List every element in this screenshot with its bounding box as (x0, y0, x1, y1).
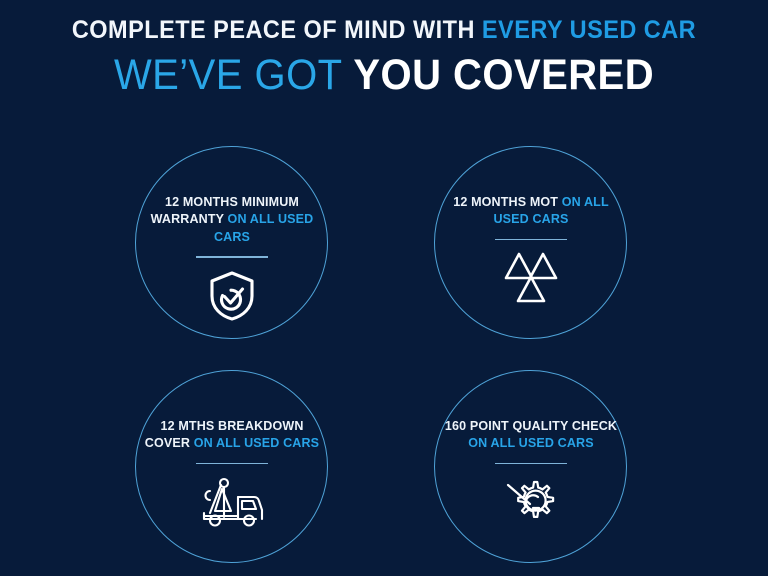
benefit-text-breakdown: 12 MTHS BREAKDOWN COVER ON ALL USED CARS (142, 417, 321, 452)
divider (196, 463, 268, 465)
mot-triangles-icon (503, 250, 559, 306)
benefit-title-blue: ON ALL USED CARS (213, 211, 312, 243)
benefit-circle-mot: 12 MONTHS MOT ON ALL USED CARS (434, 146, 627, 339)
benefit-circles-grid: 12 MONTHS MINIMUM WARRANTY ON ALL USED C… (0, 146, 768, 576)
benefit-title-white: 160 POINT QUALITY CHECK (444, 418, 616, 433)
benefit-circle-breakdown: 12 MTHS BREAKDOWN COVER ON ALL USED CARS (135, 370, 328, 563)
divider (495, 463, 567, 465)
tow-truck-icon (198, 474, 266, 530)
headline-line-1: COMPLETE PEACE OF MIND WITH EVERY USED C… (23, 16, 745, 45)
headline-line-2-blue: WE’VE GOT (114, 51, 353, 99)
benefit-text-mot: 12 MONTHS MOT ON ALL USED CARS (441, 193, 620, 228)
headline-line-2: WE’VE GOT YOU COVERED (27, 52, 741, 99)
used-car-promise-banner: COMPLETE PEACE OF MIND WITH EVERY USED C… (0, 0, 768, 576)
benefit-text-warranty: 12 MONTHS MINIMUM WARRANTY ON ALL USED C… (142, 193, 321, 245)
shield-check-icon (208, 268, 256, 324)
benefit-title-blue: ON ALL USED CARS (468, 435, 593, 450)
benefit-text-quality-check: 160 POINT QUALITY CHECK ON ALL USED CARS (441, 417, 620, 452)
headline-line-1-white: COMPLETE PEACE OF MIND WITH (72, 16, 482, 44)
benefit-title-blue: ON ALL USED CARS (193, 435, 318, 450)
divider (495, 239, 567, 241)
benefit-circle-quality-check: 160 POINT QUALITY CHECK ON ALL USED CARS (434, 370, 627, 563)
headline-line-2-white: YOU COVERED (353, 51, 654, 99)
divider (196, 256, 268, 258)
headline-block: COMPLETE PEACE OF MIND WITH EVERY USED C… (0, 16, 768, 99)
benefit-circle-warranty: 12 MONTHS MINIMUM WARRANTY ON ALL USED C… (135, 146, 328, 339)
gear-wrench-icon (503, 474, 559, 530)
benefit-title-white: 12 MONTHS MOT (453, 194, 561, 209)
headline-line-1-blue: EVERY USED CAR (482, 16, 696, 44)
